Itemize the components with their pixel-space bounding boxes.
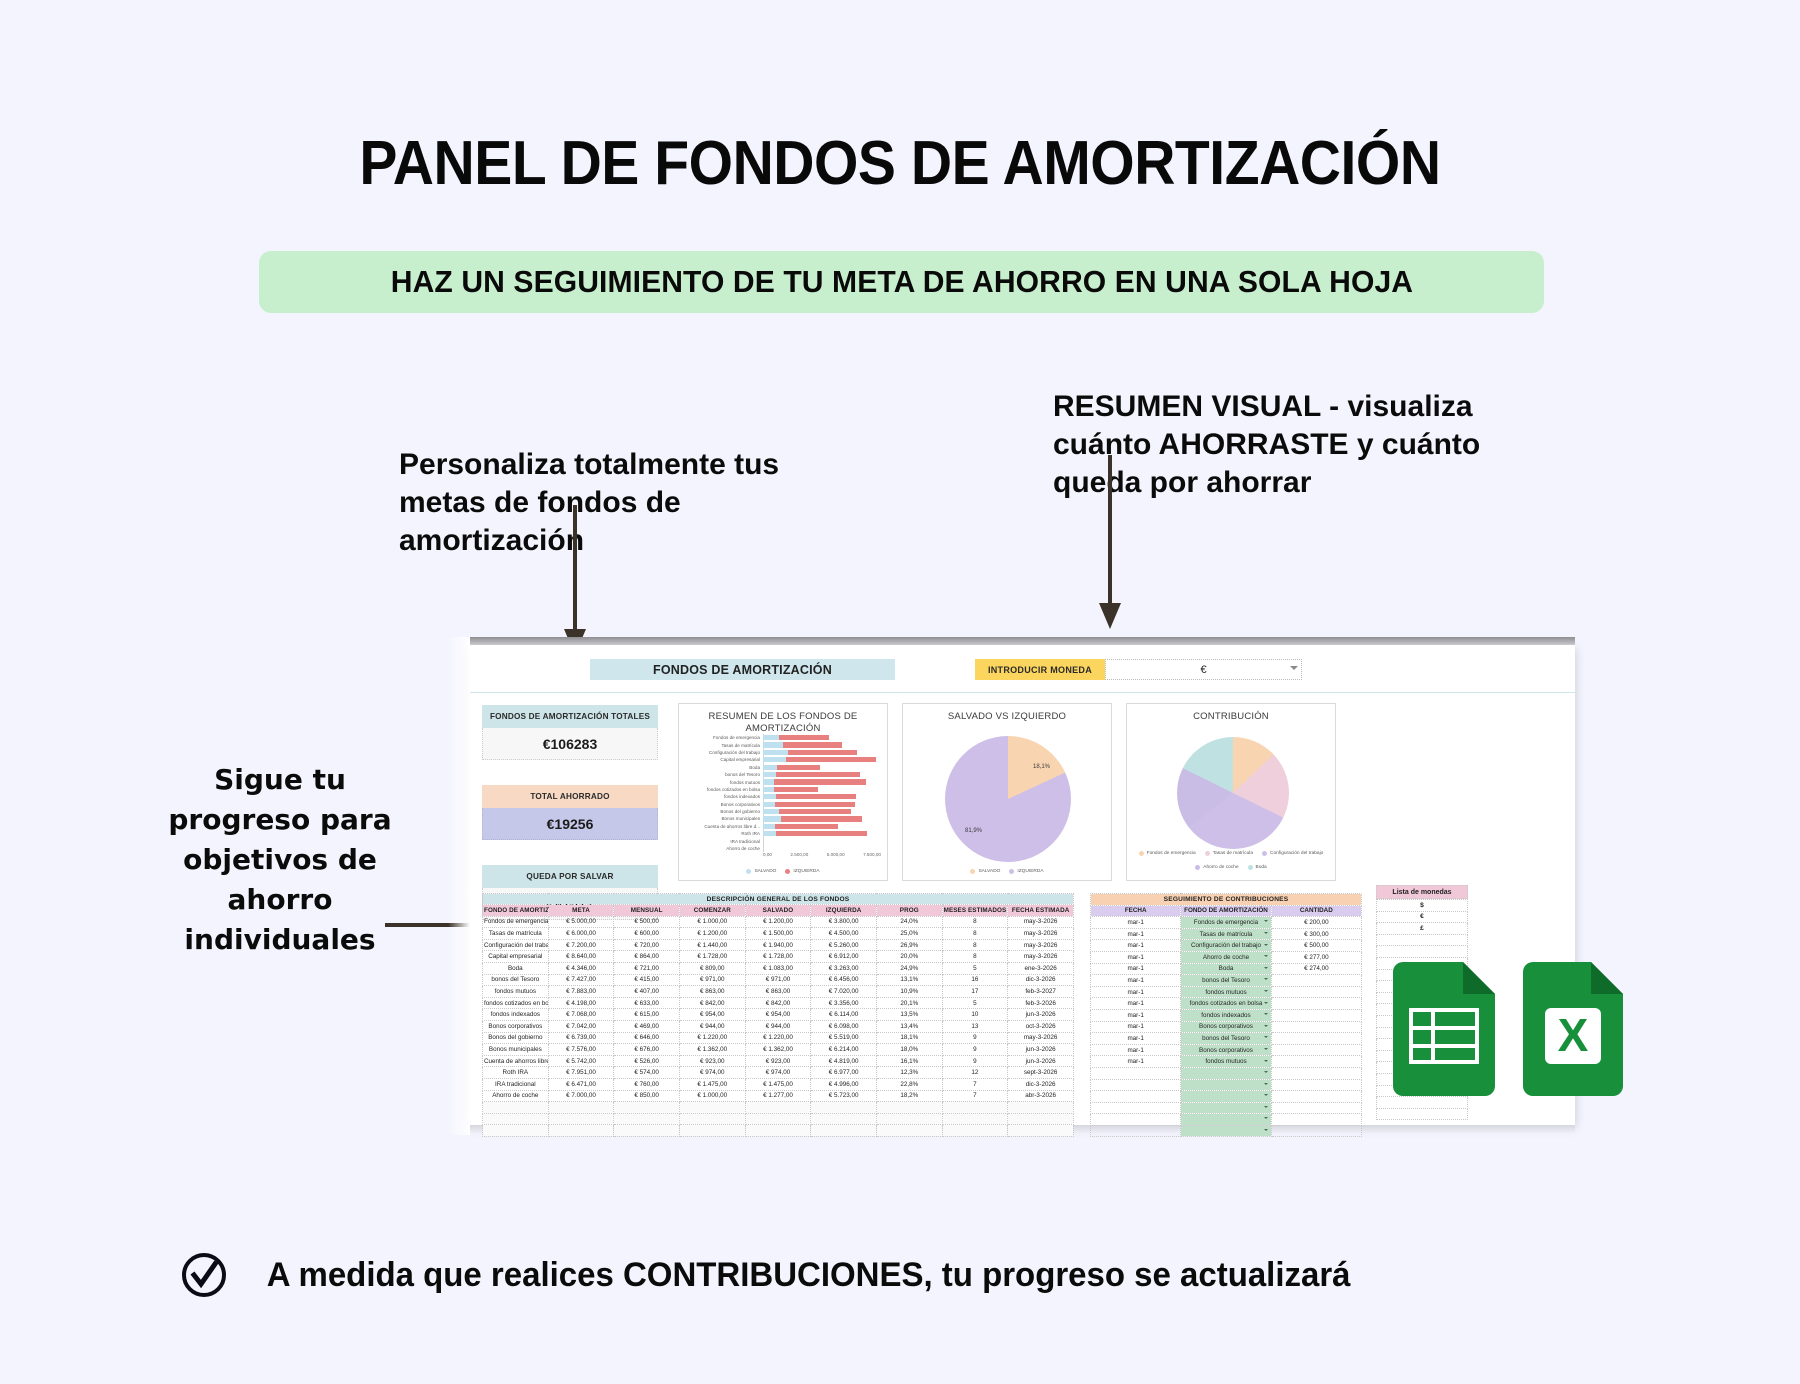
table-cell[interactable]: € 842,00 [679, 997, 745, 1009]
table-cell[interactable]: Bonos municipales [483, 1044, 549, 1056]
contribution-amount[interactable] [1271, 1079, 1361, 1091]
table-row[interactable]: Ahorro de coche€ 7.000,00€ 850,00€ 1.000… [483, 1090, 1074, 1102]
table-cell[interactable]: 18,0% [876, 1044, 942, 1056]
table-cell[interactable]: Capital empresarial [483, 951, 549, 963]
table-cell[interactable]: 20,0% [876, 951, 942, 963]
table-cell[interactable]: Configuración del trabajo [483, 939, 549, 951]
contributions-row[interactable]: mar-1bonos del Tesoro [1091, 1033, 1362, 1045]
table-row[interactable]: IRA tradicional€ 6.471,00€ 760,00€ 1.475… [483, 1078, 1074, 1090]
table-row-empty[interactable] [483, 1125, 1074, 1137]
table-cell[interactable]: 12,3% [876, 1067, 942, 1079]
table-cell[interactable]: € 8.640,00 [548, 951, 614, 963]
contribution-fund-select[interactable]: Configuración del trabajo [1181, 940, 1271, 952]
contributions-row[interactable]: mar-1fondos cotizados en bolsa [1091, 998, 1362, 1010]
table-cell[interactable] [811, 1113, 877, 1125]
table-cell[interactable] [679, 1125, 745, 1137]
table-cell[interactable]: € 6.977,00 [811, 1067, 877, 1079]
chevron-down-icon[interactable] [1264, 1106, 1268, 1108]
contributions-row-empty[interactable] [1091, 1114, 1362, 1126]
chevron-down-icon[interactable] [1264, 944, 1268, 946]
table-cell[interactable] [811, 1125, 877, 1137]
currency-select[interactable]: € [1105, 659, 1302, 680]
table-cell[interactable]: € 500,00 [614, 916, 680, 928]
table-cell[interactable]: sept-3-2026 [1008, 1067, 1074, 1079]
contributions-column-header[interactable]: CANTIDAD [1271, 905, 1361, 917]
table-cell[interactable]: jun-3-2026 [1008, 1009, 1074, 1021]
table-cell[interactable]: € 600,00 [614, 928, 680, 940]
table-cell[interactable]: € 526,00 [614, 1055, 680, 1067]
table-row[interactable]: Configuración del trabajo€ 7.200,00€ 720… [483, 939, 1074, 951]
table-cell[interactable]: 22,8% [876, 1078, 942, 1090]
table-cell[interactable]: 13,5% [876, 1009, 942, 1021]
contributions-row-empty[interactable] [1091, 1091, 1362, 1103]
contributions-row-empty[interactable] [1091, 1067, 1362, 1079]
table-cell[interactable] [811, 1102, 877, 1114]
contributions-row-empty[interactable] [1091, 1102, 1362, 1114]
contribution-amount[interactable] [1271, 1056, 1361, 1068]
table-cell[interactable]: feb-3-2026 [1008, 997, 1074, 1009]
contribution-date[interactable]: mar-1 [1091, 951, 1181, 963]
table-cell[interactable] [548, 1102, 614, 1114]
chevron-down-icon[interactable] [1290, 666, 1298, 670]
currency-list-row[interactable]: $ [1377, 900, 1468, 912]
currency-option[interactable]: £ [1377, 923, 1468, 935]
chevron-down-icon[interactable] [1264, 1036, 1268, 1038]
table-column-header[interactable]: FECHA ESTIMADA [1008, 905, 1074, 917]
table-cell[interactable] [679, 1113, 745, 1125]
currency-list-row[interactable]: € [1377, 911, 1468, 923]
table-row[interactable]: Fondos de emergencia€ 5.000,00€ 500,00€ … [483, 916, 1074, 928]
table-cell[interactable]: € 1.728,00 [745, 951, 811, 963]
table-cell[interactable] [483, 1113, 549, 1125]
contributions-column-header[interactable]: FONDO DE AMORTIZACIÓN [1181, 905, 1271, 917]
table-cell[interactable] [1008, 1102, 1074, 1114]
contribution-date[interactable]: mar-1 [1091, 940, 1181, 952]
table-cell[interactable]: IRA tradicional [483, 1078, 549, 1090]
table-cell[interactable]: € 615,00 [614, 1009, 680, 1021]
table-cell[interactable]: € 4.346,00 [548, 962, 614, 974]
contribution-date[interactable]: mar-1 [1091, 1044, 1181, 1056]
chevron-down-icon[interactable] [1264, 920, 1268, 922]
table-cell[interactable]: 12 [942, 1067, 1008, 1079]
table-cell[interactable]: € 5.519,00 [811, 1032, 877, 1044]
table-cell[interactable] [942, 1102, 1008, 1114]
contribution-fund-select[interactable]: bonos del Tesoro [1181, 1033, 1271, 1045]
contributions-row[interactable]: mar-1Ahorro de coche€ 277,00 [1091, 951, 1362, 963]
chevron-down-icon[interactable] [1264, 1129, 1268, 1131]
chevron-down-icon[interactable] [1264, 990, 1268, 992]
table-cell[interactable]: Boda [483, 962, 549, 974]
table-cell[interactable]: € 7.042,00 [548, 1020, 614, 1032]
table-cell[interactable]: € 1.940,00 [745, 939, 811, 951]
table-cell[interactable]: oct-3-2026 [1008, 1020, 1074, 1032]
table-cell[interactable]: € 923,00 [679, 1055, 745, 1067]
table-cell[interactable]: € 864,00 [614, 951, 680, 963]
table-row[interactable]: Tasas de matrícula€ 6.000,00€ 600,00€ 1.… [483, 928, 1074, 940]
chevron-down-icon[interactable] [1264, 932, 1268, 934]
contribution-fund-select[interactable]: Ahorro de coche [1181, 951, 1271, 963]
table-cell[interactable]: € 3.800,00 [811, 916, 877, 928]
table-cell[interactable]: € 1.475,00 [679, 1078, 745, 1090]
contribution-amount[interactable]: € 200,00 [1271, 917, 1361, 929]
table-cell[interactable]: 25,0% [876, 928, 942, 940]
currency-option[interactable] [1377, 1108, 1468, 1120]
table-cell[interactable]: 13 [942, 1020, 1008, 1032]
contributions-row[interactable]: mar-1Fondos de emergencia€ 200,00 [1091, 917, 1362, 929]
table-cell[interactable]: € 7.883,00 [548, 986, 614, 998]
table-cell[interactable]: € 4.500,00 [811, 928, 877, 940]
table-cell[interactable]: € 1.475,00 [745, 1078, 811, 1090]
table-cell[interactable]: 20,1% [876, 997, 942, 1009]
table-cell[interactable]: € 1.200,00 [679, 928, 745, 940]
table-cell[interactable]: jun-3-2026 [1008, 1044, 1074, 1056]
chevron-down-icon[interactable] [1264, 1083, 1268, 1085]
table-cell[interactable]: Bonos corporativos [483, 1020, 549, 1032]
table-row[interactable]: Boda€ 4.346,00€ 721,00€ 809,00€ 1.083,00… [483, 962, 1074, 974]
contribution-fund-select[interactable]: fondos indexados [1181, 1009, 1271, 1021]
contribution-date[interactable]: mar-1 [1091, 975, 1181, 987]
contribution-amount[interactable] [1271, 998, 1361, 1010]
table-cell[interactable]: € 7.200,00 [548, 939, 614, 951]
table-cell[interactable]: 9 [942, 1032, 1008, 1044]
table-row[interactable]: Cuenta de ahorros libre de impuestos€ 5.… [483, 1055, 1074, 1067]
table-cell[interactable]: jun-3-2026 [1008, 1055, 1074, 1067]
contribution-date[interactable] [1091, 1114, 1181, 1126]
table-cell[interactable]: € 1.000,00 [679, 1090, 745, 1102]
table-cell[interactable]: 16,1% [876, 1055, 942, 1067]
table-cell[interactable]: 24,0% [876, 916, 942, 928]
currency-list-row-empty[interactable] [1377, 934, 1468, 946]
contribution-fund-select[interactable]: Bonos corporativos [1181, 1021, 1271, 1033]
table-cell[interactable]: 17 [942, 986, 1008, 998]
table-cell[interactable] [679, 1102, 745, 1114]
table-cell[interactable]: € 6.114,00 [811, 1009, 877, 1021]
chevron-down-icon[interactable] [1264, 1002, 1268, 1004]
contributions-column-header[interactable]: FECHA [1091, 905, 1181, 917]
table-cell[interactable]: € 7.020,00 [811, 986, 877, 998]
table-cell[interactable]: € 7.576,00 [548, 1044, 614, 1056]
table-cell[interactable]: € 1.362,00 [679, 1044, 745, 1056]
table-row[interactable]: fondos cotizados en bolsa€ 4.198,00€ 633… [483, 997, 1074, 1009]
contribution-amount[interactable] [1271, 1021, 1361, 1033]
table-cell[interactable]: € 6.456,00 [811, 974, 877, 986]
table-cell[interactable]: dic-3-2026 [1008, 974, 1074, 986]
table-cell[interactable]: € 1.200,00 [745, 916, 811, 928]
table-cell[interactable]: € 1.000,00 [679, 916, 745, 928]
contribution-fund-select[interactable] [1181, 1067, 1271, 1079]
table-cell[interactable]: € 5.723,00 [811, 1090, 877, 1102]
table-cell[interactable]: € 974,00 [679, 1067, 745, 1079]
contribution-fund-select[interactable] [1181, 1091, 1271, 1103]
table-cell[interactable] [745, 1113, 811, 1125]
contribution-fund-select[interactable] [1181, 1102, 1271, 1114]
currency-option[interactable]: € [1377, 911, 1468, 923]
table-cell[interactable]: € 6.739,00 [548, 1032, 614, 1044]
contribution-date[interactable] [1091, 1102, 1181, 1114]
contribution-amount[interactable] [1271, 1009, 1361, 1021]
table-cell[interactable]: may-3-2026 [1008, 1032, 1074, 1044]
currency-list-row-empty[interactable] [1377, 1108, 1468, 1120]
contribution-date[interactable]: mar-1 [1091, 1033, 1181, 1045]
table-cell[interactable]: abr-3-2026 [1008, 1090, 1074, 1102]
table-cell[interactable] [548, 1125, 614, 1137]
table-row[interactable]: Capital empresarial€ 8.640,00€ 864,00€ 1… [483, 951, 1074, 963]
currency-option[interactable] [1377, 934, 1468, 946]
table-cell[interactable]: € 676,00 [614, 1044, 680, 1056]
contribution-date[interactable] [1091, 1091, 1181, 1103]
contributions-row[interactable]: mar-1bonos del Tesoro [1091, 975, 1362, 987]
table-cell[interactable]: € 721,00 [614, 962, 680, 974]
table-row[interactable]: Bonos corporativos€ 7.042,00€ 469,00€ 94… [483, 1020, 1074, 1032]
table-cell[interactable]: 8 [942, 928, 1008, 940]
table-cell[interactable]: € 944,00 [679, 1020, 745, 1032]
table-cell[interactable]: € 1.440,00 [679, 939, 745, 951]
table-cell[interactable]: € 6.098,00 [811, 1020, 877, 1032]
contributions-row[interactable]: mar-1Bonos corporativos [1091, 1021, 1362, 1033]
table-cell[interactable]: € 5.260,00 [811, 939, 877, 951]
chevron-down-icon[interactable] [1264, 967, 1268, 969]
table-cell[interactable]: € 954,00 [679, 1009, 745, 1021]
contribution-date[interactable]: mar-1 [1091, 917, 1181, 929]
table-cell[interactable]: € 1.277,00 [745, 1090, 811, 1102]
contribution-date[interactable] [1091, 1125, 1181, 1137]
table-cell[interactable]: Roth IRA [483, 1067, 549, 1079]
contribution-fund-select[interactable]: fondos cotizados en bolsa [1181, 998, 1271, 1010]
table-cell[interactable]: € 7.000,00 [548, 1090, 614, 1102]
table-cell[interactable]: 9 [942, 1044, 1008, 1056]
contributions-row[interactable]: mar-1Bonos corporativos [1091, 1044, 1362, 1056]
table-cell[interactable]: € 646,00 [614, 1032, 680, 1044]
table-cell[interactable]: feb-3-2027 [1008, 986, 1074, 998]
contribution-amount[interactable]: € 500,00 [1271, 940, 1361, 952]
table-cell[interactable]: € 6.471,00 [548, 1078, 614, 1090]
table-cell[interactable]: 5 [942, 997, 1008, 1009]
contributions-row[interactable]: mar-1fondos mutuos [1091, 1056, 1362, 1068]
contribution-date[interactable]: mar-1 [1091, 1056, 1181, 1068]
contribution-amount[interactable] [1271, 1102, 1361, 1114]
contribution-fund-select[interactable]: fondos mutuos [1181, 986, 1271, 998]
table-cell[interactable]: may-3-2026 [1008, 916, 1074, 928]
table-cell[interactable]: € 7.427,00 [548, 974, 614, 986]
table-cell[interactable]: may-3-2026 [1008, 928, 1074, 940]
table-cell[interactable]: 16 [942, 974, 1008, 986]
table-cell[interactable]: € 1.220,00 [679, 1032, 745, 1044]
table-cell[interactable]: € 944,00 [745, 1020, 811, 1032]
currency-option[interactable]: $ [1377, 900, 1468, 912]
contribution-date[interactable]: mar-1 [1091, 963, 1181, 975]
chevron-down-icon[interactable] [1264, 1060, 1268, 1062]
table-cell[interactable]: € 407,00 [614, 986, 680, 998]
table-cell[interactable]: € 1.083,00 [745, 962, 811, 974]
table-row[interactable]: Bonos del gobierno€ 6.739,00€ 646,00€ 1.… [483, 1032, 1074, 1044]
table-column-header[interactable]: MESES ESTIMADOS [942, 905, 1008, 917]
table-column-header[interactable]: IZQUIERDA [811, 905, 877, 917]
table-cell[interactable]: bonos del Tesoro [483, 974, 549, 986]
table-cell[interactable]: € 971,00 [745, 974, 811, 986]
table-row[interactable]: fondos mutuos€ 7.883,00€ 407,00€ 863,00€… [483, 986, 1074, 998]
table-cell[interactable]: € 1.500,00 [745, 928, 811, 940]
table-cell[interactable] [1008, 1125, 1074, 1137]
contribution-fund-select[interactable]: Fondos de emergencia [1181, 917, 1271, 929]
table-cell[interactable]: € 469,00 [614, 1020, 680, 1032]
table-cell[interactable]: € 863,00 [679, 986, 745, 998]
table-cell[interactable] [876, 1102, 942, 1114]
contribution-fund-select[interactable]: fondos mutuos [1181, 1056, 1271, 1068]
table-cell[interactable]: € 7.951,00 [548, 1067, 614, 1079]
currency-list-row[interactable]: £ [1377, 923, 1468, 935]
table-cell[interactable]: € 4.198,00 [548, 997, 614, 1009]
table-cell[interactable]: 18,1% [876, 1032, 942, 1044]
table-cell[interactable] [483, 1125, 549, 1137]
contribution-amount[interactable]: € 300,00 [1271, 928, 1361, 940]
contributions-row[interactable]: mar-1fondos indexados [1091, 1009, 1362, 1021]
table-cell[interactable]: 24,9% [876, 962, 942, 974]
table-row[interactable]: fondos indexados€ 7.068,00€ 615,00€ 954,… [483, 1009, 1074, 1021]
contribution-fund-select[interactable] [1181, 1079, 1271, 1091]
contributions-row[interactable]: mar-1Boda€ 274,00 [1091, 963, 1362, 975]
chevron-down-icon[interactable] [1264, 955, 1268, 957]
table-cell[interactable]: 10 [942, 1009, 1008, 1021]
contribution-date[interactable] [1091, 1067, 1181, 1079]
table-cell[interactable]: 9 [942, 1055, 1008, 1067]
table-cell[interactable] [548, 1113, 614, 1125]
contributions-table[interactable]: SEGUIMIENTO DE CONTRIBUCIONES FECHAFONDO… [1090, 893, 1362, 1137]
table-cell[interactable]: € 809,00 [679, 962, 745, 974]
chevron-down-icon[interactable] [1264, 978, 1268, 980]
table-cell[interactable]: € 923,00 [745, 1055, 811, 1067]
contributions-row[interactable]: mar-1fondos mutuos [1091, 986, 1362, 998]
table-cell[interactable]: € 850,00 [614, 1090, 680, 1102]
contribution-amount[interactable] [1271, 986, 1361, 998]
chevron-down-icon[interactable] [1264, 1117, 1268, 1119]
table-body[interactable]: Fondos de emergencia€ 5.000,00€ 500,00€ … [483, 916, 1074, 1136]
table-cell[interactable] [1008, 1113, 1074, 1125]
table-cell[interactable]: € 6.912,00 [811, 951, 877, 963]
chevron-down-icon[interactable] [1264, 1025, 1268, 1027]
table-cell[interactable]: 26,9% [876, 939, 942, 951]
contribution-fund-select[interactable] [1181, 1125, 1271, 1137]
chevron-down-icon[interactable] [1264, 1071, 1268, 1073]
table-column-header[interactable]: SALVADO [745, 905, 811, 917]
contribution-fund-select[interactable]: Tasas de matrícula [1181, 928, 1271, 940]
table-cell[interactable]: € 720,00 [614, 939, 680, 951]
table-cell[interactable] [942, 1125, 1008, 1137]
table-cell[interactable] [614, 1102, 680, 1114]
contribution-date[interactable]: mar-1 [1091, 1021, 1181, 1033]
contribution-fund-select[interactable]: bonos del Tesoro [1181, 975, 1271, 987]
table-cell[interactable]: ene-3-2026 [1008, 962, 1074, 974]
table-cell[interactable]: 8 [942, 939, 1008, 951]
contribution-amount[interactable] [1271, 1033, 1361, 1045]
table-cell[interactable]: 13,1% [876, 974, 942, 986]
contribution-fund-select[interactable]: Bonos corporativos [1181, 1044, 1271, 1056]
table-row-empty[interactable] [483, 1102, 1074, 1114]
table-cell[interactable] [614, 1125, 680, 1137]
table-cell[interactable]: dic-3-2026 [1008, 1078, 1074, 1090]
table-cell[interactable]: € 7.068,00 [548, 1009, 614, 1021]
table-cell[interactable]: € 3.263,00 [811, 962, 877, 974]
table-cell[interactable] [876, 1125, 942, 1137]
table-column-header[interactable]: PROG [876, 905, 942, 917]
table-cell[interactable]: 13,4% [876, 1020, 942, 1032]
table-cell[interactable]: may-3-2026 [1008, 951, 1074, 963]
contribution-fund-select[interactable] [1181, 1114, 1271, 1126]
table-cell[interactable]: 8 [942, 951, 1008, 963]
table-cell[interactable]: € 974,00 [745, 1067, 811, 1079]
contribution-fund-select[interactable]: Boda [1181, 963, 1271, 975]
funds-overview-table[interactable]: DESCRIPCIÓN GENERAL DE LOS FONDOS FONDO … [482, 893, 1074, 1137]
table-cell[interactable]: 7 [942, 1090, 1008, 1102]
contributions-row[interactable]: mar-1Configuración del trabajo€ 500,00 [1091, 940, 1362, 952]
contribution-date[interactable]: mar-1 [1091, 986, 1181, 998]
table-cell[interactable]: fondos mutuos [483, 986, 549, 998]
table-cell[interactable]: € 954,00 [745, 1009, 811, 1021]
table-cell[interactable]: 10,9% [876, 986, 942, 998]
table-cell[interactable]: € 5.742,00 [548, 1055, 614, 1067]
table-cell[interactable]: € 863,00 [745, 986, 811, 998]
table-cell[interactable]: 18,2% [876, 1090, 942, 1102]
table-cell[interactable]: € 1.362,00 [745, 1044, 811, 1056]
table-cell[interactable]: 7 [942, 1078, 1008, 1090]
contribution-amount[interactable] [1271, 1067, 1361, 1079]
contributions-row[interactable]: mar-1Tasas de matrícula€ 300,00 [1091, 928, 1362, 940]
table-cell[interactable] [483, 1102, 549, 1114]
table-cell[interactable]: Cuenta de ahorros libre de impuestos [483, 1055, 549, 1067]
table-cell[interactable]: € 633,00 [614, 997, 680, 1009]
table-cell[interactable]: € 842,00 [745, 997, 811, 1009]
contribution-amount[interactable] [1271, 1125, 1361, 1137]
table-row[interactable]: bonos del Tesoro€ 7.427,00€ 415,00€ 971,… [483, 974, 1074, 986]
table-row-empty[interactable] [483, 1113, 1074, 1125]
table-cell[interactable]: € 6.000,00 [548, 928, 614, 940]
table-cell[interactable]: may-3-2026 [1008, 939, 1074, 951]
table-column-header[interactable]: MENSUAL [614, 905, 680, 917]
table-cell[interactable]: € 3.356,00 [811, 997, 877, 1009]
table-cell[interactable]: Ahorro de coche [483, 1090, 549, 1102]
contribution-amount[interactable]: € 277,00 [1271, 951, 1361, 963]
table-cell[interactable]: € 1.220,00 [745, 1032, 811, 1044]
table-cell[interactable] [745, 1125, 811, 1137]
contribution-amount[interactable]: € 274,00 [1271, 963, 1361, 975]
table-cell[interactable]: € 6.214,00 [811, 1044, 877, 1056]
table-cell[interactable]: Fondos de emergencia [483, 916, 549, 928]
table-cell[interactable]: € 760,00 [614, 1078, 680, 1090]
table-column-header[interactable]: COMENZAR [679, 905, 745, 917]
table-cell[interactable]: 8 [942, 916, 1008, 928]
contribution-amount[interactable] [1271, 975, 1361, 987]
table-row[interactable]: Bonos municipales€ 7.576,00€ 676,00€ 1.3… [483, 1044, 1074, 1056]
table-cell[interactable] [614, 1113, 680, 1125]
contributions-row-empty[interactable] [1091, 1125, 1362, 1137]
table-cell[interactable]: € 4.996,00 [811, 1078, 877, 1090]
contribution-date[interactable]: mar-1 [1091, 998, 1181, 1010]
contribution-amount[interactable] [1271, 1091, 1361, 1103]
table-column-header[interactable]: FONDO DE AMORTIZACIÓN [483, 905, 549, 917]
table-cell[interactable] [745, 1102, 811, 1114]
contributions-body[interactable]: mar-1Fondos de emergencia€ 200,00mar-1Ta… [1091, 917, 1362, 1137]
table-row[interactable]: Roth IRA€ 7.951,00€ 574,00€ 974,00€ 974,… [483, 1067, 1074, 1079]
table-cell[interactable]: € 1.728,00 [679, 951, 745, 963]
chevron-down-icon[interactable] [1264, 1094, 1268, 1096]
table-cell[interactable]: € 971,00 [679, 974, 745, 986]
contribution-amount[interactable] [1271, 1114, 1361, 1126]
table-column-header[interactable]: META [548, 905, 614, 917]
table-cell[interactable]: fondos indexados [483, 1009, 549, 1021]
contributions-row-empty[interactable] [1091, 1079, 1362, 1091]
contribution-date[interactable]: mar-1 [1091, 1009, 1181, 1021]
table-cell[interactable] [876, 1113, 942, 1125]
table-cell[interactable]: Bonos del gobierno [483, 1032, 549, 1044]
